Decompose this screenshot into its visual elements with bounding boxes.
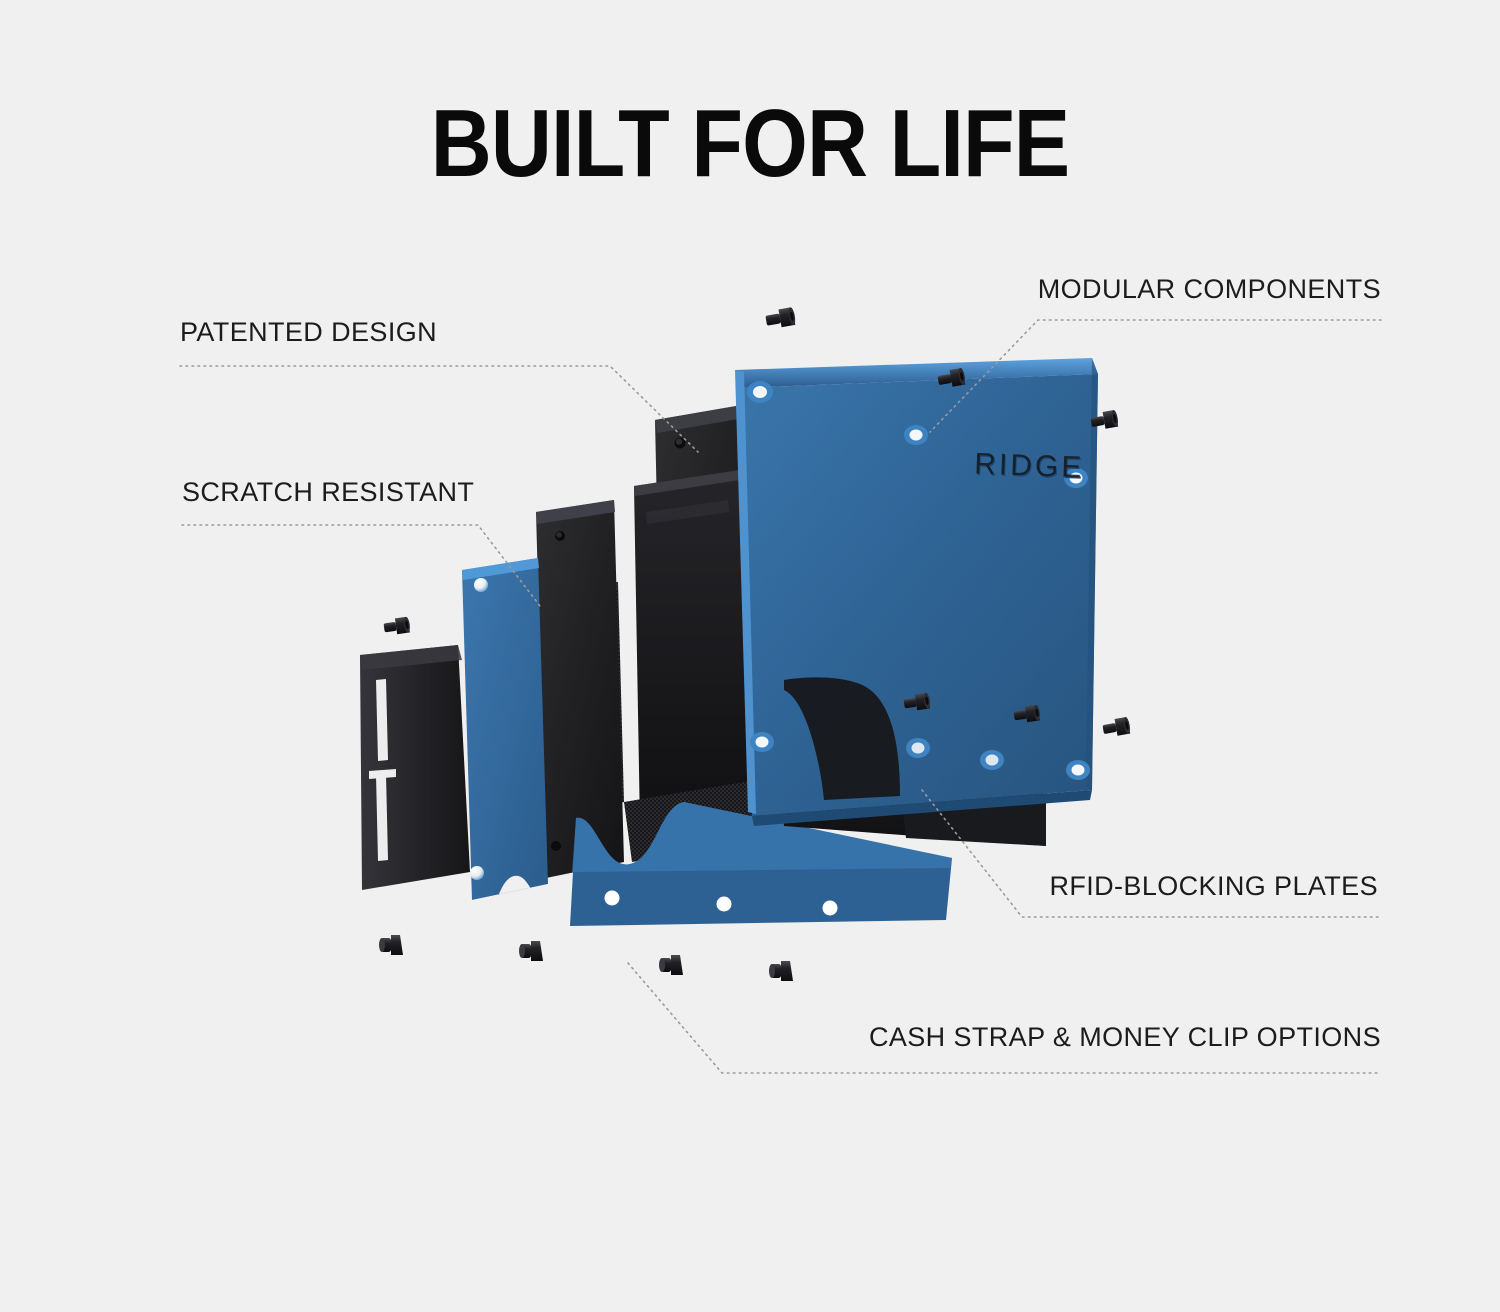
part-money-clip	[360, 645, 470, 890]
screw-group-lower	[379, 935, 793, 981]
svg-text:RIDGE: RIDGE	[974, 448, 1085, 485]
part-blue-rfid-plate-rear	[462, 558, 548, 916]
product-feature-graphic: BUILT FOR LIFE	[0, 0, 1500, 1312]
exploded-wallet-illustration: RIDGE RIDGE	[0, 0, 1500, 1312]
part-blue-rfid-plate-front: RIDGE RIDGE	[735, 358, 1098, 826]
